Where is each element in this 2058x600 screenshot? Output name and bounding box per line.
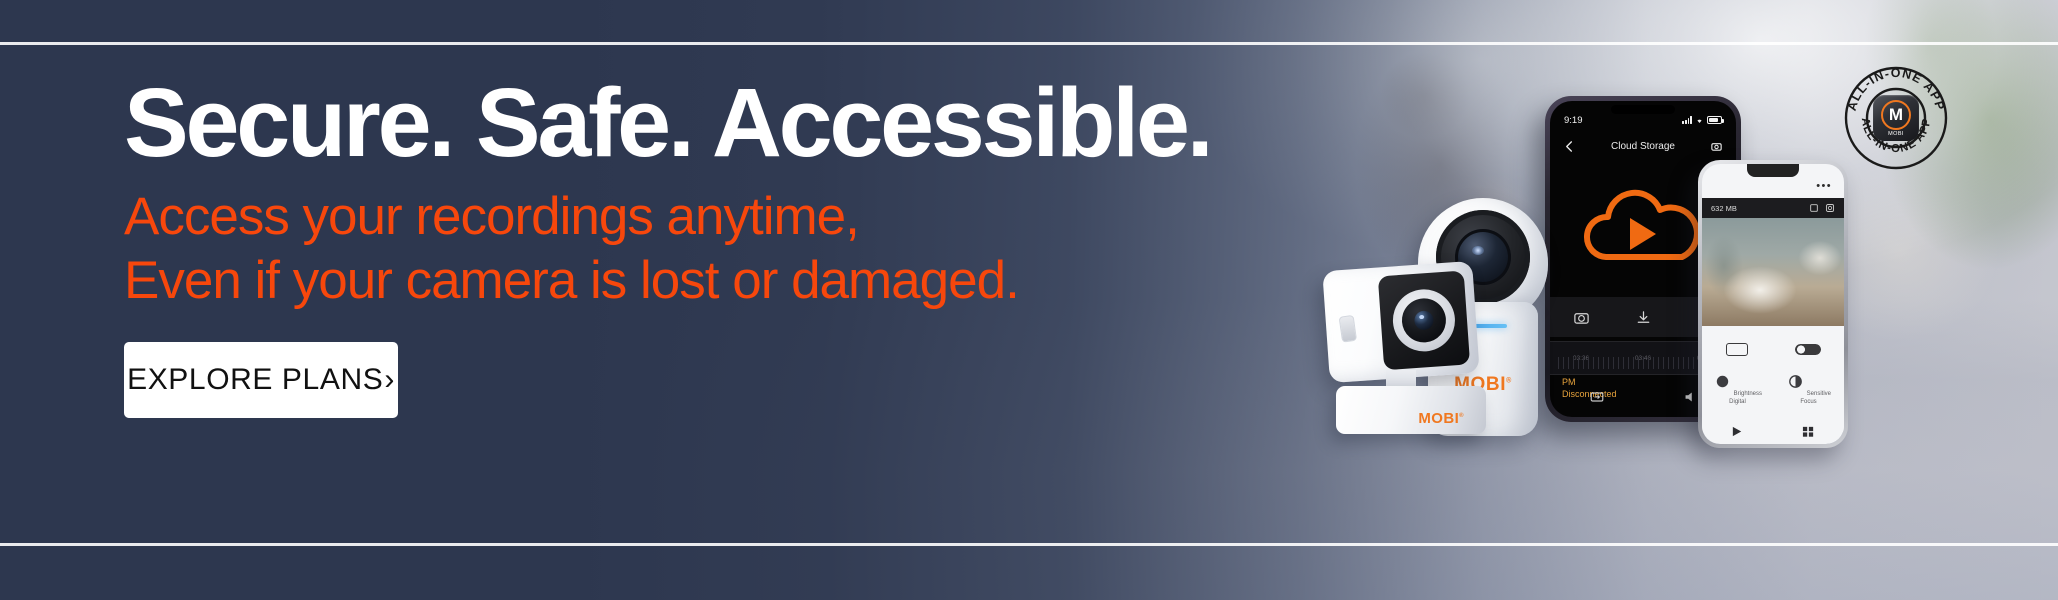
overflow-menu-icon[interactable]: •••: [1816, 180, 1832, 192]
status-bar: 9:19: [1550, 112, 1736, 128]
phone-light-bottom-bar: [1702, 418, 1844, 444]
trademark-mark: ®: [1506, 378, 1512, 385]
brightness-icon: [1713, 372, 1732, 391]
mobi-wordmark: MOBI: [1888, 131, 1904, 137]
play-small-icon[interactable]: [1730, 425, 1745, 438]
phone-light-notch: [1747, 164, 1799, 177]
camera-switch-icon[interactable]: [1710, 140, 1723, 153]
feed-control-row: [1702, 332, 1844, 366]
phone-light-screen: ••• 632 MB: [1702, 164, 1844, 444]
lens-glint: [1472, 246, 1484, 255]
app-nav-bar: Cloud Storage: [1550, 135, 1736, 157]
cloud-small-icon[interactable]: [1825, 203, 1835, 213]
mode-brightness[interactable]: Brightness Digital: [1710, 372, 1766, 406]
copy-block: Secure. Safe. Accessible. Access your re…: [124, 74, 1244, 418]
mode-brightness-label: Brightness Digital: [1729, 391, 1762, 405]
divider-line-top: [0, 42, 2058, 45]
camera-live-feed[interactable]: [1702, 218, 1844, 326]
back-chevron-icon[interactable]: [1563, 140, 1576, 153]
camera-cube-brand-label: MOBI®: [1418, 410, 1464, 427]
promo-banner: Secure. Safe. Accessible. Access your re…: [0, 0, 2058, 600]
page-title: Secure. Safe. Accessible.: [124, 74, 1244, 171]
download-icon[interactable]: [1635, 309, 1652, 326]
camera-cube: MOBI®: [1320, 266, 1498, 448]
camera-cube-face: [1378, 271, 1470, 371]
all-in-one-app-seal: ALL-IN-ONE APP ALL-IN-ONE APP M MOBI: [1840, 62, 1952, 174]
grid-icon[interactable]: [1801, 425, 1816, 438]
battery-icon: [1707, 116, 1722, 124]
panorama-icon[interactable]: [1795, 344, 1821, 355]
explore-plans-label: EXPLORE PLANS: [127, 363, 383, 397]
mobi-m-letter: M: [1881, 100, 1911, 130]
play-icon[interactable]: [1630, 218, 1656, 250]
camera-cube-housing: [1322, 261, 1479, 383]
signal-icon: [1682, 116, 1692, 124]
mode-focus[interactable]: Sensitive Focus: [1781, 372, 1837, 406]
chevron-right-icon: ›: [384, 363, 395, 397]
volume-icon[interactable]: [1682, 389, 1698, 405]
wifi-icon: [1695, 116, 1704, 124]
divider-line-bottom: [0, 543, 2058, 546]
app-nav-title: Cloud Storage: [1550, 141, 1736, 152]
storage-strip: 632 MB: [1702, 198, 1844, 218]
brand-text: MOBI: [1418, 410, 1459, 427]
subheadline-line-1: Access your recordings anytime,: [124, 187, 859, 246]
camera-cube-base: MOBI®: [1336, 386, 1486, 434]
explore-plans-button[interactable]: EXPLORE PLANS ›: [124, 342, 398, 418]
subheadline-line-2: Even if your camera is lost or damaged.: [124, 249, 1244, 313]
mobi-app-icon: M MOBI: [1873, 95, 1919, 141]
sd-card-icon[interactable]: [1809, 203, 1819, 213]
contrast-icon: [1786, 372, 1805, 391]
frame-icon[interactable]: [1726, 343, 1748, 356]
snapshot-icon[interactable]: [1573, 309, 1590, 326]
status-indicators: [1682, 116, 1722, 124]
strip-icons: [1809, 203, 1835, 213]
subheadline: Access your recordings anytime, Even if …: [124, 185, 1244, 313]
camera-cube-port: [1339, 315, 1357, 343]
mode-focus-label: Sensitive Focus: [1800, 391, 1831, 405]
screenshot-icon[interactable]: [1589, 389, 1605, 405]
phone-light-device: ••• 632 MB: [1698, 160, 1848, 448]
status-time: 9:19: [1564, 115, 1583, 126]
trademark-mark: ®: [1459, 413, 1464, 419]
storage-label: 632 MB: [1711, 204, 1737, 213]
